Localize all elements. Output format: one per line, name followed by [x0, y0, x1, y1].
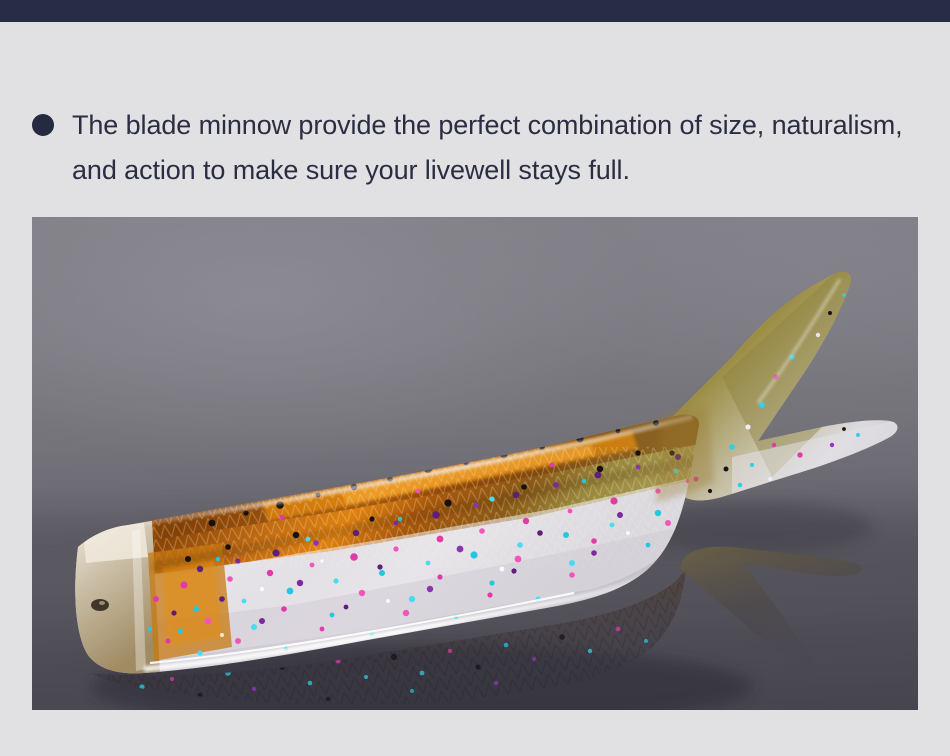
- lure-illustration: [32, 217, 918, 710]
- top-accent-band: [0, 0, 950, 22]
- filled-circle-bullet-icon: [32, 114, 54, 136]
- lure-eye: [91, 599, 109, 611]
- feature-bullet-item: The blade minnow provide the perfect com…: [32, 103, 922, 193]
- feature-description-text: The blade minnow provide the perfect com…: [72, 103, 922, 193]
- product-photo: [32, 217, 918, 710]
- blade-minnow-lure-image: [32, 217, 918, 710]
